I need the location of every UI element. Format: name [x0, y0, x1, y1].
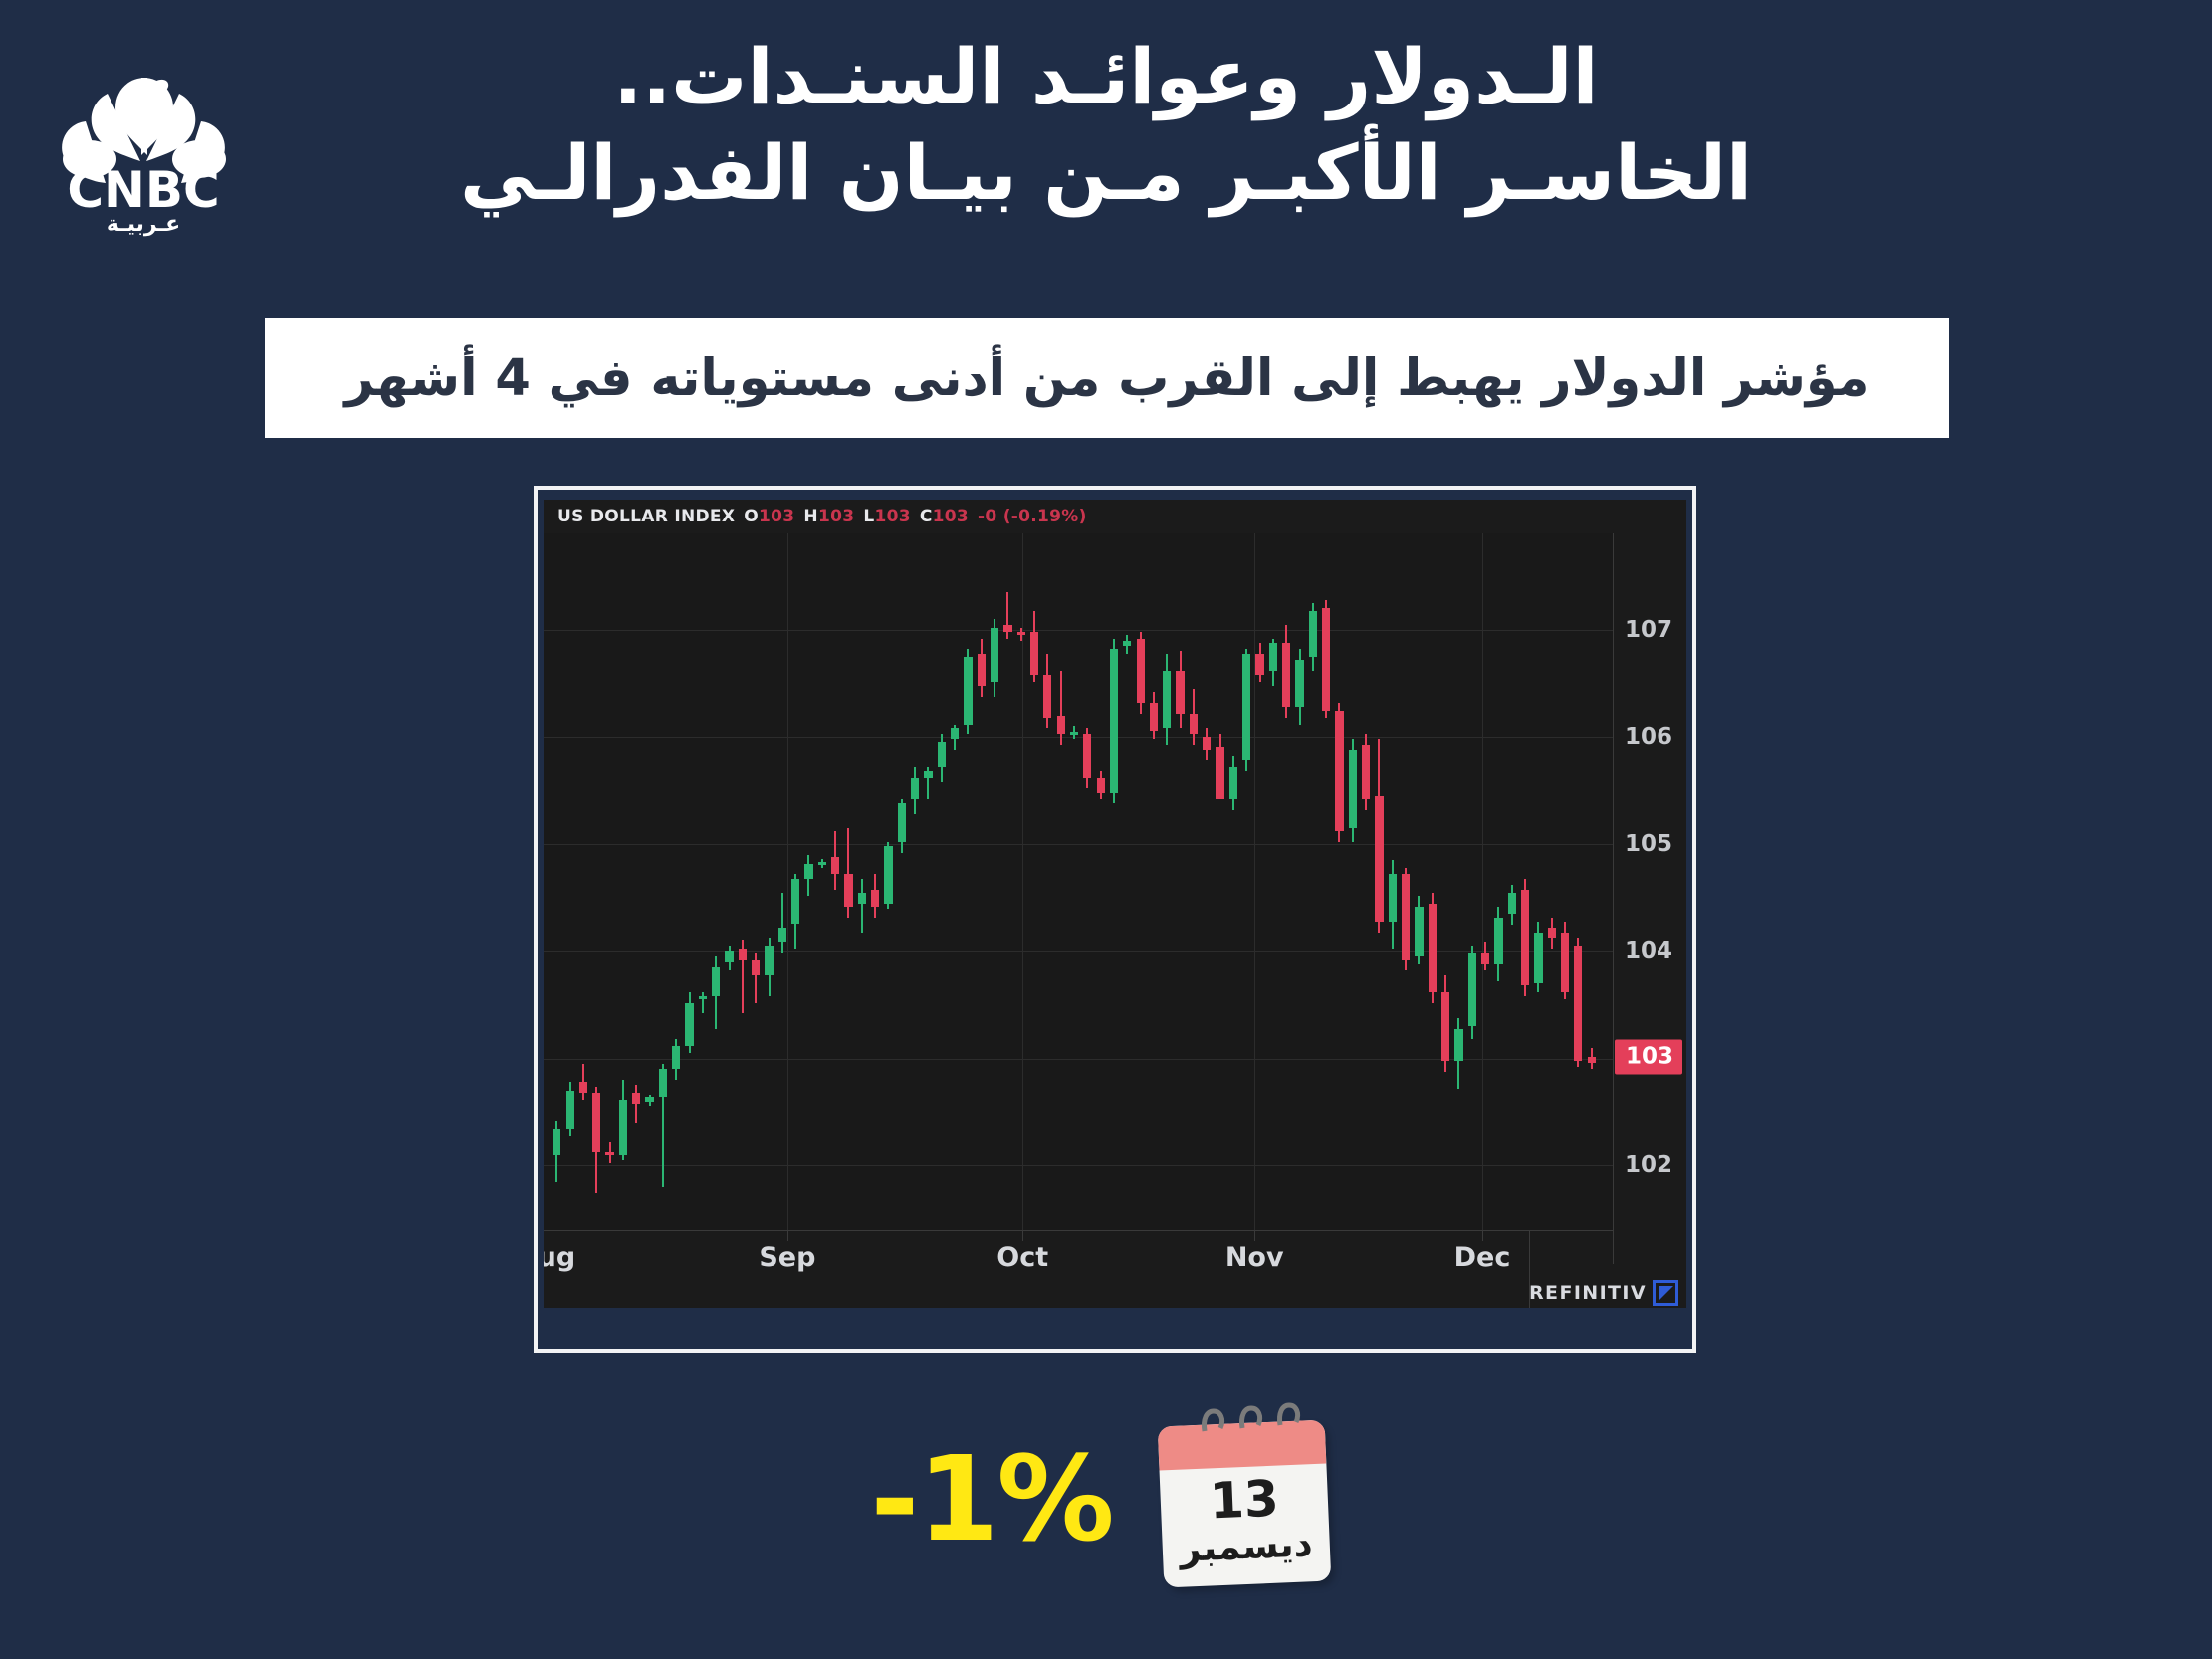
candlestick [1322, 533, 1330, 1230]
candle-body [1242, 654, 1250, 761]
candlestick [1150, 533, 1158, 1230]
candlestick [619, 533, 627, 1230]
candlestick [1163, 533, 1171, 1230]
candlestick [1255, 533, 1263, 1230]
candle-body [645, 1097, 653, 1101]
calendar-page: 13 ديسمبر [1157, 1420, 1331, 1588]
candlestick [765, 533, 773, 1230]
candle-body [672, 1046, 680, 1070]
candlestick [1441, 533, 1449, 1230]
candlestick [1335, 533, 1343, 1230]
candle-body [1494, 918, 1502, 964]
headline-line-1: الـدولار وعوائـد السنـدات.. [0, 28, 2212, 124]
candlestick-series [544, 533, 1613, 1230]
candle-body [619, 1100, 627, 1155]
candlestick [1295, 533, 1303, 1230]
candlestick [1030, 533, 1038, 1230]
candle-body [1349, 750, 1357, 829]
page-title: الـدولار وعوائـد السنـدات.. الخاسـر الأك… [0, 28, 2212, 222]
candle-body [659, 1069, 667, 1097]
candle-body [844, 874, 852, 906]
candle-body [739, 949, 747, 960]
chart-container: US DOLLAR INDEX O103 H103 L103 C103 -0 (… [534, 486, 1696, 1353]
candle-body [685, 1003, 693, 1046]
candlestick [1309, 533, 1317, 1230]
candle-body [1043, 675, 1051, 718]
candle-body [1521, 890, 1529, 986]
candle-body [1229, 767, 1237, 799]
candle-body [725, 951, 733, 962]
price-axis-tick: 107 [1625, 617, 1672, 643]
candle-body [1362, 745, 1370, 799]
candlestick [1588, 533, 1596, 1230]
price-axis-tick: 102 [1625, 1152, 1672, 1178]
candlestick [632, 533, 640, 1230]
candlestick [1574, 533, 1582, 1230]
candlestick [1415, 533, 1423, 1230]
candle-wick [861, 879, 863, 933]
candle-body [605, 1152, 613, 1155]
candle-body [791, 879, 799, 924]
candlestick [712, 533, 720, 1230]
candle-body [1508, 893, 1516, 915]
refinitiv-label: REFINITIV [1529, 1282, 1647, 1304]
candle-body [1295, 660, 1303, 707]
candle-body [1402, 874, 1410, 959]
candle-body [566, 1091, 574, 1129]
time-axis-tick [1482, 1231, 1483, 1241]
candle-body [1003, 625, 1011, 633]
candle-body [1561, 933, 1569, 992]
price-axis-tick: 106 [1625, 725, 1672, 750]
candle-body [1389, 874, 1397, 921]
candlestick [1521, 533, 1529, 1230]
candlestick [1190, 533, 1198, 1230]
candlestick [592, 533, 600, 1230]
subtitle-banner: مؤشر الدولار يهبط إلى القرب من أدنى مستو… [265, 318, 1949, 438]
candlestick [1561, 533, 1569, 1230]
candlestick [1070, 533, 1078, 1230]
candlestick [1203, 533, 1211, 1230]
candle-body [1534, 933, 1542, 984]
price-axis[interactable]: USD107106105104103102103 [1613, 500, 1686, 1264]
chart-plot-area [544, 533, 1613, 1230]
candle-body [592, 1093, 600, 1152]
candle-body [1176, 671, 1184, 714]
time-axis-tick-label: ug [544, 1242, 575, 1273]
candlestick [1269, 533, 1277, 1230]
candlestick [1003, 533, 1011, 1230]
candle-body [1203, 737, 1211, 750]
price-axis-tick: 105 [1625, 831, 1672, 857]
candle-body [1335, 711, 1343, 832]
candle-body [804, 864, 812, 879]
percent-change-value: -1% [870, 1440, 1112, 1557]
candlestick [1229, 533, 1237, 1230]
candlestick [791, 533, 799, 1230]
candle-body [1468, 953, 1476, 1026]
candle-body [1309, 611, 1317, 657]
candlestick [804, 533, 812, 1230]
candle-body [1441, 992, 1449, 1061]
chart-quote-header: US DOLLAR INDEX O103 H103 L103 C103 -0 (… [544, 500, 1686, 533]
candle-body [1574, 946, 1582, 1061]
candle-body [818, 862, 826, 865]
candle-body [1454, 1029, 1462, 1061]
time-axis-tick-label: Oct [996, 1242, 1048, 1273]
candle-body [1083, 734, 1091, 777]
candle-body [1070, 732, 1078, 735]
quote-high: H103 [803, 507, 854, 526]
candlestick [871, 533, 879, 1230]
candlestick [1043, 533, 1051, 1230]
candlestick [739, 533, 747, 1230]
candlestick [938, 533, 946, 1230]
refinitiv-arrow-icon [1653, 1280, 1678, 1306]
calendar-icon: 13 ديسمبر [1147, 1401, 1342, 1596]
candle-body [884, 846, 892, 903]
candlestick [884, 533, 892, 1230]
candlestick [1548, 533, 1556, 1230]
candlestick [1468, 533, 1476, 1230]
candle-body [632, 1093, 640, 1104]
candle-body [938, 742, 946, 767]
candle-body [752, 960, 760, 975]
candle-wick [635, 1085, 637, 1124]
candle-body [1150, 703, 1158, 731]
candle-body [951, 728, 959, 739]
candlestick [553, 533, 560, 1230]
candle-body [991, 628, 998, 682]
candle-body [1375, 796, 1383, 922]
candle-body [1481, 953, 1489, 964]
candlestick [1389, 533, 1397, 1230]
candlestick [831, 533, 839, 1230]
candlestick [844, 533, 852, 1230]
candle-body [1097, 778, 1105, 793]
candle-body [898, 803, 906, 842]
quote-close: C103 [920, 507, 969, 526]
candle-body [1282, 643, 1290, 708]
candlestick [1375, 533, 1383, 1230]
candle-body [924, 771, 932, 777]
candle-body [831, 857, 839, 874]
candlestick [1454, 533, 1462, 1230]
candle-wick [781, 893, 783, 953]
quote-change: -0 (-0.19%) [978, 507, 1087, 526]
chart-canvas: US DOLLAR INDEX O103 H103 L103 C103 -0 (… [544, 500, 1686, 1308]
candlestick [964, 533, 972, 1230]
candle-body [1322, 608, 1330, 710]
candlestick [1362, 533, 1370, 1230]
candlestick [858, 533, 866, 1230]
chart-symbol-label: US DOLLAR INDEX [557, 507, 735, 526]
candlestick [685, 533, 693, 1230]
candlestick [898, 533, 906, 1230]
candle-body [1110, 649, 1118, 792]
candle-wick [702, 992, 704, 1014]
candlestick [579, 533, 587, 1230]
candlestick [605, 533, 613, 1230]
candlestick [1017, 533, 1025, 1230]
candle-body [765, 946, 773, 975]
candlestick [1429, 533, 1437, 1230]
candle-body [1588, 1057, 1596, 1063]
candlestick [1242, 533, 1250, 1230]
candlestick [911, 533, 919, 1230]
candlestick [1097, 533, 1105, 1230]
candle-body [858, 893, 866, 904]
candle-body [1269, 643, 1277, 671]
time-axis[interactable]: ugSepOctNovDec [544, 1230, 1613, 1308]
candle-body [1030, 632, 1038, 675]
candlestick [1137, 533, 1145, 1230]
quote-open: O103 [744, 507, 794, 526]
candlestick [1534, 533, 1542, 1230]
candlestick [672, 533, 680, 1230]
refinitiv-watermark: REFINITIV [1529, 1280, 1678, 1306]
time-axis-tick-label: Nov [1225, 1242, 1284, 1273]
candlestick [1494, 533, 1502, 1230]
candlestick [778, 533, 786, 1230]
candlestick [1349, 533, 1357, 1230]
candlestick [991, 533, 998, 1230]
candlestick [645, 533, 653, 1230]
calendar-day: 13 [1160, 1472, 1329, 1529]
candlestick [699, 533, 707, 1230]
candlestick [1123, 533, 1131, 1230]
candle-body [699, 996, 707, 999]
candlestick [818, 533, 826, 1230]
time-axis-tick-label: Sep [759, 1242, 815, 1273]
candlestick [1402, 533, 1410, 1230]
candlestick [566, 533, 574, 1230]
headline-line-2: الخاسـر الأكبـر مـن بيـان الفدرالـي [0, 124, 2212, 221]
candle-body [579, 1082, 587, 1093]
candlestick [1481, 533, 1489, 1230]
candle-body [1415, 907, 1423, 957]
candle-body [1255, 654, 1263, 676]
candlestick [752, 533, 760, 1230]
time-axis-tick [1022, 1231, 1023, 1241]
candle-body [1057, 716, 1065, 734]
candlestick [1216, 533, 1223, 1230]
subtitle-text: مؤشر الدولار يهبط إلى القرب من أدنى مستو… [345, 349, 1870, 408]
candle-body [1548, 928, 1556, 938]
candlestick [1282, 533, 1290, 1230]
time-axis-tick-label: Dec [1454, 1242, 1511, 1273]
candle-body [1123, 641, 1131, 646]
price-axis-tick: 104 [1625, 938, 1672, 964]
calendar-month: ديسمبر [1162, 1523, 1331, 1570]
candle-body [964, 657, 972, 725]
candle-body [871, 890, 879, 907]
candlestick [1083, 533, 1091, 1230]
candlestick [978, 533, 986, 1230]
candlestick [1508, 533, 1516, 1230]
candle-body [1190, 714, 1198, 735]
time-axis-tick [1254, 1231, 1255, 1241]
candle-body [1163, 671, 1171, 728]
candlestick [924, 533, 932, 1230]
candle-body [1429, 904, 1437, 992]
time-axis-tick [787, 1231, 788, 1241]
candle-body [1137, 639, 1145, 704]
candlestick [1110, 533, 1118, 1230]
candlestick [725, 533, 733, 1230]
candle-body [911, 778, 919, 800]
last-price-badge: 103 [1615, 1039, 1682, 1074]
candle-body [1216, 747, 1223, 799]
candlestick [1176, 533, 1184, 1230]
candlestick [1057, 533, 1065, 1230]
candle-body [712, 967, 720, 996]
quote-low: L103 [863, 507, 911, 526]
candle-body [553, 1129, 560, 1155]
footer-stats: -1% 13 ديسمبر [0, 1401, 2212, 1596]
candle-body [778, 928, 786, 942]
candle-body [1017, 632, 1025, 635]
calendar-rings-icon [1147, 1401, 1342, 1441]
candlestick [951, 533, 959, 1230]
candle-body [978, 654, 986, 686]
candlestick [659, 533, 667, 1230]
